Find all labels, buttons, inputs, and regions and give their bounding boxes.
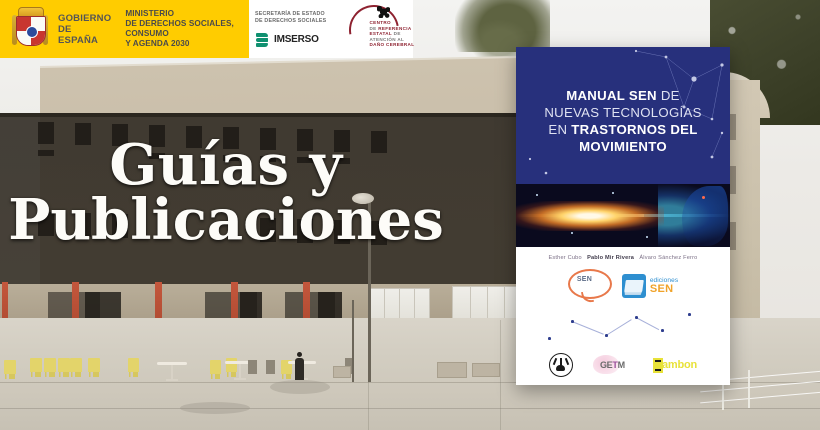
sen-society-logo-icon: SEN <box>568 269 608 303</box>
network-decoration <box>516 307 730 345</box>
window <box>240 292 262 318</box>
spark <box>612 192 614 194</box>
ministry-label: MINISTERIO DE DERECHOS SOCIALES, CONSUMO… <box>125 9 249 49</box>
table <box>157 362 187 382</box>
getm-label: GETM <box>600 360 625 370</box>
paving-line <box>500 320 501 430</box>
imserso-logo-icon <box>255 32 270 47</box>
gov-line-1: GOBIERNO <box>58 13 111 24</box>
node <box>571 320 574 323</box>
ministry-line-1: MINISTERIO <box>125 9 249 19</box>
pilaster <box>303 282 310 320</box>
zambon-z-icon <box>653 358 663 373</box>
pilaster <box>155 282 162 320</box>
agency-block: SECRETARÍA DE ESTADO DE DERECHOS SOCIALE… <box>249 0 413 58</box>
railing-post <box>748 370 750 408</box>
secretary-line-1: SECRETARÍA DE ESTADO <box>255 11 347 18</box>
ediciones-sen-text: ediciones SEN <box>650 277 678 295</box>
pilaster <box>2 282 8 320</box>
window <box>85 292 121 318</box>
planter <box>437 362 467 378</box>
node <box>661 329 664 332</box>
spark <box>646 236 648 238</box>
chair <box>58 358 70 372</box>
central-light-burst <box>516 201 664 231</box>
chair <box>88 358 100 372</box>
book-title-line-3: EN TRASTORNOS DEL <box>524 121 722 138</box>
book-cover-bottom: Esther Cubo Pablo Mir Rivera Álvaro Sánc… <box>516 247 730 385</box>
secretary-line-2: DE DERECHOS SOCIALES <box>255 18 347 25</box>
book-title-line-4: MOVIMIENTO <box>524 138 722 155</box>
ceadac-splat-icon <box>377 6 390 18</box>
ediciones-sen-logo: ediciones SEN <box>622 274 678 298</box>
gov-line-2: DE ESPAÑA <box>58 24 111 46</box>
waste-bin <box>248 360 257 374</box>
sen-logo-label: SEN <box>577 276 592 283</box>
imserso-label: IMSERSO <box>274 34 319 45</box>
secretary-of-state-block: SECRETARÍA DE ESTADO DE DERECHOS SOCIALE… <box>249 0 347 58</box>
book-cover[interactable]: MANUAL SEN DE NUEVAS TECNOLOGÍAS EN TRAS… <box>516 47 730 385</box>
spark <box>536 194 538 196</box>
window <box>318 292 342 318</box>
book-title-line-2: NUEVAS TECNOLOGÍAS <box>524 104 722 121</box>
chair <box>128 358 139 372</box>
ceadac-line-5: DAÑO CEREBRAL <box>369 42 414 48</box>
ceadac-text: CENTRO DE REFERENCIA ESTATAL DE ATENCIÓN… <box>369 20 414 48</box>
ministry-line-2: DE DERECHOS SOCIALES, CONSUMO <box>125 19 249 39</box>
spark <box>702 196 705 199</box>
person <box>295 358 304 380</box>
government-block: GOBIERNO DE ESPAÑA MINISTERIO DE DERECHO… <box>0 0 249 58</box>
imserso-logo: IMSERSO <box>255 32 347 47</box>
chair <box>30 358 42 372</box>
book-authors: Esther Cubo Pablo Mir Rivera Álvaro Sánc… <box>516 255 730 261</box>
ministry-line-3: Y AGENDA 2030 <box>125 39 249 49</box>
spain-coat-of-arms-icon <box>12 7 48 51</box>
node <box>605 334 608 337</box>
head-profile-icon <box>682 186 728 246</box>
zambon-label: ambon <box>662 359 697 371</box>
zambon-logo: ambon <box>653 358 697 373</box>
chair <box>70 358 82 372</box>
chair <box>4 360 16 374</box>
sen-foundation-logo-icon <box>549 353 573 377</box>
person-head <box>297 352 302 357</box>
node <box>548 337 551 340</box>
getm-logo: GETM <box>593 354 633 376</box>
planter <box>472 363 500 377</box>
overlay-top-edge <box>0 113 520 117</box>
publications-banner: Guías y Publicaciones GOBIERNO DE ESPAÑA… <box>0 0 820 430</box>
glass-entrance <box>452 286 522 322</box>
page-title: Guías y Publicaciones <box>0 138 452 248</box>
spark <box>571 232 573 234</box>
government-label: GOBIERNO DE ESPAÑA <box>58 13 111 46</box>
planter <box>333 366 351 378</box>
chair <box>210 360 221 374</box>
publisher-logos: SEN ediciones SEN <box>516 269 730 303</box>
pilaster <box>72 282 79 320</box>
author-1: Esther Cubo <box>549 255 582 261</box>
sponsor-logos: GETM ambon <box>516 353 730 377</box>
wet-patch <box>270 380 330 394</box>
book-pages-icon <box>622 274 646 298</box>
paving-line <box>0 408 820 409</box>
node <box>688 313 691 316</box>
node <box>635 316 638 319</box>
book-cover-artwork <box>516 184 730 247</box>
title-line-2: Publicaciones <box>0 193 452 248</box>
chair <box>44 358 56 372</box>
waste-bin <box>266 360 275 374</box>
author-3: Álvaro Sánchez Ferro <box>639 255 697 261</box>
institutional-header: GOBIERNO DE ESPAÑA MINISTERIO DE DERECHO… <box>0 0 413 58</box>
book-title-line-1: MANUAL SEN DE <box>524 87 722 104</box>
wet-patch <box>180 402 250 414</box>
lamp-post <box>352 300 354 382</box>
author-2: Pablo Mir Rivera <box>587 255 634 261</box>
book-cover-top: MANUAL SEN DE NUEVAS TECNOLOGÍAS EN TRAS… <box>516 47 730 184</box>
book-title: MANUAL SEN DE NUEVAS TECNOLOGÍAS EN TRAS… <box>524 87 722 155</box>
ceadac-logo: CENTRO DE REFERENCIA ESTATAL DE ATENCIÓN… <box>347 0 413 58</box>
pilaster <box>231 282 238 320</box>
ediciones-sen-label: SEN <box>650 284 678 295</box>
